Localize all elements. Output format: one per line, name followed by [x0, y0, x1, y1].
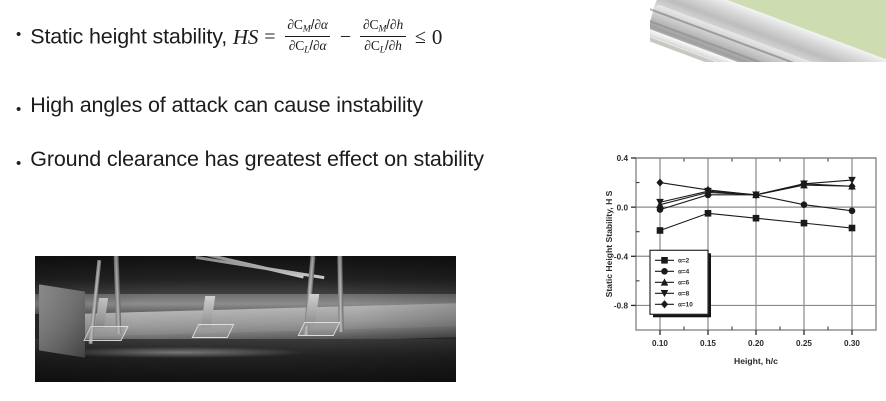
bullet-text-wrapper: Static height stability, HS = ∂CM/∂α ∂CL… [30, 18, 442, 57]
chart-legend-label-α=4: α=4 [678, 269, 690, 276]
formula-term-1: ∂CM/∂α ∂CL/∂α [283, 17, 331, 56]
formula-term-1-denominator: ∂CL/∂α [285, 36, 331, 56]
formula-inequality: ≤ [415, 26, 426, 50]
bullet-text-high-aoa: High angles of attack can cause instabil… [30, 93, 423, 118]
formula-lhs: HS [233, 25, 258, 50]
chart-data-point-α=2 [753, 215, 760, 222]
bullet-label-static-height-stability: Static height stability, [30, 24, 227, 48]
static-height-stability-chart: 0.100.150.200.250.300.40.0-0.4-0.8Height… [600, 140, 886, 390]
chart-data-point-α=2 [657, 227, 664, 234]
chart-xtick-label: 0.25 [796, 339, 812, 348]
chart-xtick-label: 0.15 [700, 339, 716, 348]
bullet-marker-icon: • [16, 27, 21, 42]
chart-data-point-α=4 [801, 201, 808, 208]
bullet-item-static-height-stability: • Static height stability, HS = ∂CM/∂α ∂… [16, 18, 616, 57]
formula-equals: = [264, 26, 275, 50]
chart-data-point-α=2 [801, 220, 808, 227]
wind-tunnel-photo [35, 256, 456, 382]
chart-svg: 0.100.150.200.250.300.40.0-0.4-0.8Height… [600, 140, 886, 390]
chart-xtick-label: 0.30 [844, 339, 860, 348]
fuselage-cfd-render [650, 0, 886, 62]
chart-legend-label-α=6: α=6 [678, 280, 690, 287]
chart-legend-marker-α=2 [661, 257, 668, 264]
bullet-marker-icon: • [16, 156, 21, 171]
chart-xtick-label: 0.20 [748, 339, 764, 348]
bullet-marker-icon: • [16, 102, 21, 117]
bullet-item-ground-clearance: • Ground clearance has greatest effect o… [16, 147, 616, 172]
chart-legend-label-α=10: α=10 [678, 302, 693, 309]
bullet-item-high-aoa: • High angles of attack can cause instab… [16, 93, 616, 118]
chart-ytick-label: -0.4 [614, 252, 629, 261]
chart-ytick-label: -0.8 [614, 302, 629, 311]
chart-legend-label-α=8: α=8 [678, 291, 690, 298]
photo-vignette [35, 256, 456, 382]
chart-xtick-label: 0.10 [652, 339, 668, 348]
chart-ytick-label: 0.0 [617, 203, 629, 212]
bullet-text-ground-clearance: Ground clearance has greatest effect on … [30, 147, 484, 172]
formula-minus: − [340, 26, 351, 50]
chart-yaxis-label: Static Height Stability, H S [604, 190, 614, 297]
formula-term-2: ∂CM/∂h ∂CL/∂h [359, 17, 407, 56]
formula-term-1-numerator: ∂CM/∂α [283, 17, 331, 36]
bullet-list: • Static height stability, HS = ∂CM/∂α ∂… [16, 14, 616, 176]
chart-data-point-α=2 [849, 225, 856, 232]
formula-rhs: 0 [432, 25, 442, 50]
formula-term-2-numerator: ∂CM/∂h [359, 17, 407, 36]
chart-legend-marker-α=4 [661, 268, 668, 275]
formula-static-height-stability: HS = ∂CM/∂α ∂CL/∂α − ∂CM/∂h ∂CL/∂h ≤ 0 [233, 18, 442, 57]
formula-term-2-denominator: ∂CL/∂h [360, 36, 405, 56]
chart-ytick-label: 0.4 [617, 154, 629, 163]
chart-xaxis-label: Height, h/c [734, 356, 778, 366]
chart-data-point-α=2 [705, 210, 712, 217]
chart-legend-label-α=2: α=2 [678, 258, 690, 265]
chart-data-point-α=4 [849, 208, 856, 215]
